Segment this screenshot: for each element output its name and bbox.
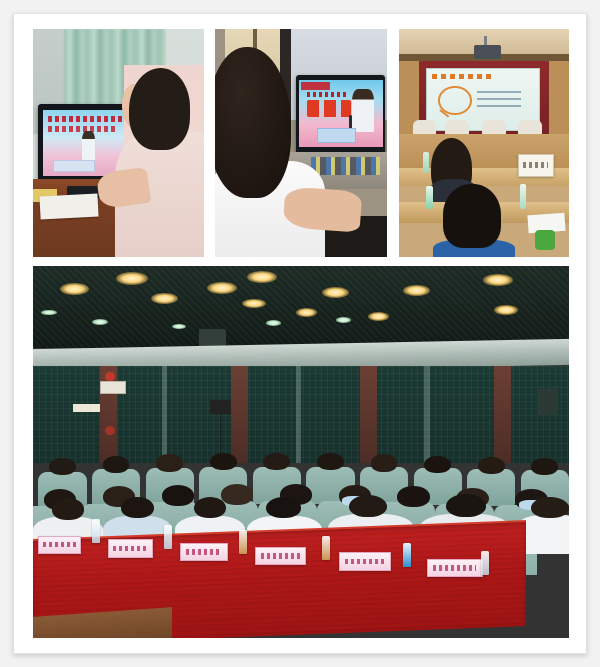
vip-head [194, 497, 226, 519]
water-bottle [481, 551, 489, 575]
broadcast-headline [307, 100, 351, 117]
attendee-head [478, 457, 505, 474]
attendee-hair [443, 184, 501, 248]
attendee-head [210, 453, 237, 470]
ceiling-lamp [322, 287, 349, 298]
attendee-head [424, 456, 451, 473]
ceiling-lamp [207, 282, 236, 294]
ceiling-lamp [494, 305, 518, 315]
collage-card [13, 13, 587, 654]
table-nameplate [339, 552, 392, 570]
photo-2-content [215, 29, 387, 257]
wall-column [494, 366, 511, 463]
attendee-head [371, 454, 398, 471]
photo-office-desk-opening-ceremony[interactable] [215, 29, 387, 257]
wall-mullion [162, 366, 167, 463]
water-bottle [322, 536, 330, 560]
vip-head [531, 497, 569, 519]
exit-sign-icon [100, 381, 126, 394]
vip-head [52, 498, 84, 520]
wall-mullion [296, 366, 301, 463]
ceiling-lamp-green [266, 320, 281, 326]
table-nameplate [38, 536, 80, 554]
paper-sheets [39, 194, 98, 220]
attendee-head [317, 453, 344, 470]
ceiling-lamp [403, 285, 430, 296]
broadcast-tag [301, 82, 330, 89]
table-nameplate [108, 539, 153, 557]
photo-home-office-online-training[interactable] [33, 29, 204, 257]
attendee-head [263, 453, 290, 470]
photo-auditorium-plenary-session[interactable] [33, 266, 569, 638]
vip-head [446, 494, 486, 518]
magnifier-icon [438, 86, 471, 115]
table-nameplate [180, 543, 228, 561]
ceiling-lamp-green [336, 317, 351, 323]
water-bottle [426, 186, 433, 209]
slide-body-text [477, 91, 522, 112]
water-bottle [164, 525, 172, 549]
broadcast-subtitle [307, 92, 349, 97]
vip-head [349, 495, 387, 518]
widescreen-monitor [296, 75, 385, 157]
attendee-head [103, 456, 130, 473]
wall-speaker-icon [537, 389, 558, 415]
broadcast-lower-third [53, 160, 95, 172]
wood-panel-right [549, 61, 569, 134]
photo-collage [14, 14, 586, 653]
attendee-head [156, 454, 183, 471]
broadcast-speaker [352, 89, 374, 132]
monitor-screen [299, 80, 383, 147]
wall-column [360, 366, 377, 463]
water-bottle [520, 184, 527, 209]
water-bottle [92, 519, 100, 543]
alarm-light-icon [105, 372, 115, 381]
broadcast-lower-third [317, 128, 356, 143]
desk-clutter [311, 157, 380, 175]
ceiling-lamp [483, 274, 512, 286]
green-bag [535, 230, 555, 251]
ceiling-lamp [368, 312, 389, 321]
vip-head [266, 497, 301, 519]
vip-head [121, 497, 153, 519]
slide-title [432, 74, 495, 80]
ceiling-lamp [247, 271, 276, 283]
photo-3-content [399, 29, 569, 257]
desk-nameplate [518, 154, 554, 177]
projector-icon [474, 45, 501, 59]
ceiling-lamp [151, 293, 178, 304]
wall-column [231, 366, 248, 463]
photo-1-content [33, 29, 204, 257]
table-nameplate [427, 559, 483, 577]
attendee-head [49, 458, 76, 475]
photo-4-content [33, 266, 569, 638]
attendee-head [531, 458, 558, 475]
water-bottle [423, 152, 429, 173]
wall-sign [73, 404, 100, 412]
attendee-hair [129, 68, 191, 150]
wall-mullion [424, 366, 429, 463]
ceiling-lamp [116, 272, 148, 285]
photo-small-meeting-room-projection[interactable] [399, 29, 569, 257]
broadcast-title-line-2 [48, 126, 117, 132]
water-bottle [403, 543, 411, 567]
broadcast-speaker [82, 131, 96, 161]
broadcast-title-line-1 [48, 116, 124, 123]
alarm-light-icon [105, 426, 115, 435]
water-bottle [239, 530, 247, 554]
table-nameplate [255, 547, 305, 565]
